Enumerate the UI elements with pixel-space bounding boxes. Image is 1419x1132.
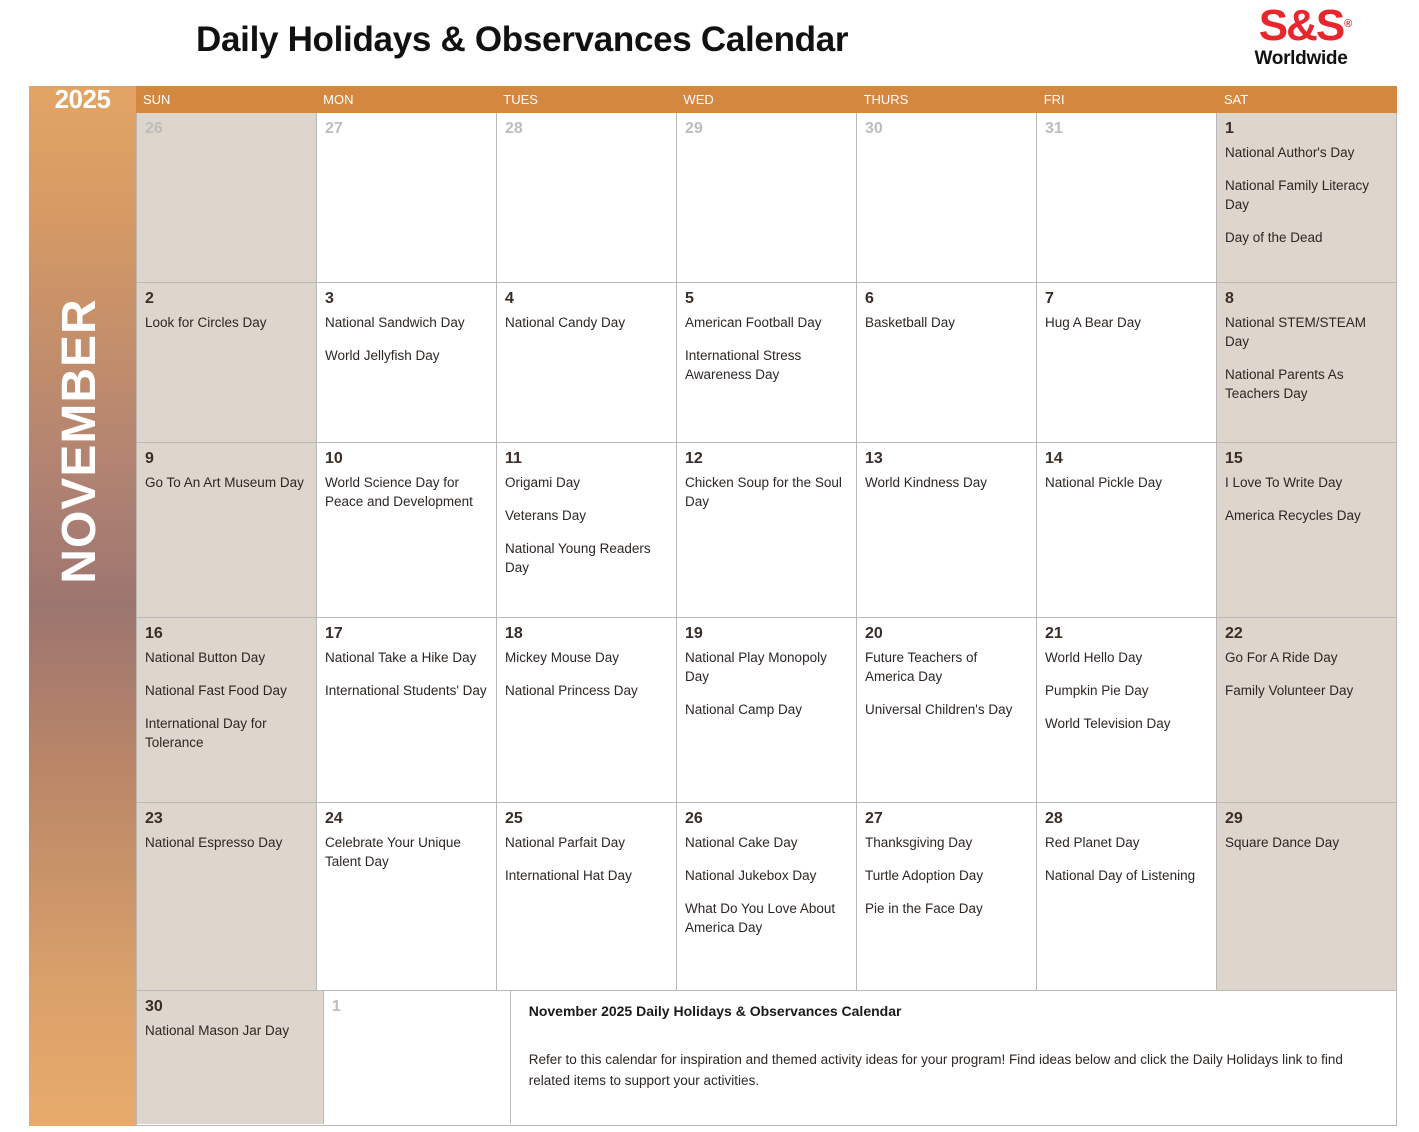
day-cell-17[interactable]: 17National Take a Hike DayInternational … — [317, 618, 497, 802]
page-header: Daily Holidays & Observances Calendar S&… — [0, 0, 1419, 86]
day-of-week-header-fri: FRI — [1037, 86, 1217, 113]
day-cell-4[interactable]: 4National Candy Day — [497, 283, 677, 442]
day-event[interactable]: Mickey Mouse Day — [505, 648, 668, 667]
day-cell-22[interactable]: 22Go For A Ride DayFamily Volunteer Day — [1217, 618, 1396, 802]
day-event[interactable]: National Mason Jar Day — [145, 1021, 315, 1040]
day-number: 15 — [1225, 449, 1388, 469]
day-number: 7 — [1045, 289, 1208, 309]
note-title: November 2025 Daily Holidays & Observanc… — [529, 1001, 1378, 1021]
day-of-week-header-tues: TUES — [496, 86, 676, 113]
month-label: NOVEMBER — [55, 116, 105, 766]
week-row: 2Look for Circles Day3National Sandwich … — [137, 283, 1396, 443]
day-event[interactable]: National Button Day — [145, 648, 308, 667]
day-cell-18[interactable]: 18Mickey Mouse DayNational Princess Day — [497, 618, 677, 802]
day-cell-27[interactable]: 27 — [317, 113, 497, 282]
day-number: 20 — [865, 624, 1028, 644]
day-event[interactable]: Thanksgiving Day — [865, 833, 1028, 852]
day-event[interactable]: National Parents As Teachers Day — [1225, 365, 1388, 403]
day-cell-15[interactable]: 15I Love To Write DayAmerica Recycles Da… — [1217, 443, 1396, 617]
day-number: 26 — [145, 119, 308, 139]
day-cell-19[interactable]: 19National Play Monopoly DayNational Cam… — [677, 618, 857, 802]
day-event[interactable]: Red Planet Day — [1045, 833, 1208, 852]
day-number: 3 — [325, 289, 488, 309]
day-cell-14[interactable]: 14National Pickle Day — [1037, 443, 1217, 617]
day-cell-20[interactable]: 20Future Teachers of America DayUniversa… — [857, 618, 1037, 802]
page-title: Daily Holidays & Observances Calendar — [196, 20, 848, 60]
day-event[interactable]: America Recycles Day — [1225, 506, 1388, 525]
day-event[interactable]: National Play Monopoly Day — [685, 648, 848, 686]
day-event[interactable]: National Candy Day — [505, 313, 668, 332]
week-rows: 2627282930311National Author's DayNation… — [136, 113, 1397, 1126]
day-event[interactable]: National Parfait Day — [505, 833, 668, 852]
day-number: 22 — [1225, 624, 1388, 644]
day-cell-30[interactable]: 30National Mason Jar Day — [137, 991, 324, 1124]
day-event[interactable]: National Author's Day — [1225, 143, 1388, 162]
brand-mark-text: S&S ® — [1259, 4, 1343, 48]
month-rail: 2025 NOVEMBER — [29, 86, 136, 1126]
day-cell-8[interactable]: 8National STEM/STEAM DayNational Parents… — [1217, 283, 1396, 442]
day-cell-1[interactable]: 1 — [324, 991, 511, 1124]
day-number: 25 — [505, 809, 668, 829]
day-number: 13 — [865, 449, 1028, 469]
day-event[interactable]: Basketball Day — [865, 313, 1028, 332]
day-event[interactable]: Square Dance Day — [1225, 833, 1388, 852]
day-cell-26[interactable]: 26 — [137, 113, 317, 282]
day-event[interactable]: Look for Circles Day — [145, 313, 308, 332]
day-number: 30 — [865, 119, 1028, 139]
day-number: 30 — [145, 997, 315, 1017]
day-cell-25[interactable]: 25National Parfait DayInternational Hat … — [497, 803, 677, 990]
day-cell-3[interactable]: 3National Sandwich DayWorld Jellyfish Da… — [317, 283, 497, 442]
day-event[interactable]: International Day for Tolerance — [145, 714, 308, 752]
day-event[interactable]: Celebrate Your Unique Talent Day — [325, 833, 488, 871]
note-body: Refer to this calendar for inspiration a… — [529, 1049, 1378, 1091]
calendar-grid: SUNMONTUESWEDTHURSFRISAT 2627282930311Na… — [136, 86, 1397, 1126]
day-event[interactable]: National Fast Food Day — [145, 681, 308, 700]
day-event[interactable]: Origami Day — [505, 473, 668, 492]
day-cell-12[interactable]: 12Chicken Soup for the Soul Day — [677, 443, 857, 617]
day-event[interactable]: National Day of Listening — [1045, 866, 1208, 885]
day-event[interactable]: Day of the Dead — [1225, 228, 1388, 247]
day-event[interactable]: National Espresso Day — [145, 833, 308, 852]
day-number: 10 — [325, 449, 488, 469]
week-row-last: 30National Mason Jar Day1November 2025 D… — [137, 991, 1396, 1124]
day-number: 11 — [505, 449, 668, 469]
day-cell-16[interactable]: 16National Button DayNational Fast Food … — [137, 618, 317, 802]
day-number: 28 — [505, 119, 668, 139]
day-cell-26[interactable]: 26National Cake DayNational Jukebox DayW… — [677, 803, 857, 990]
day-event[interactable]: National Princess Day — [505, 681, 668, 700]
day-cell-1[interactable]: 1National Author's DayNational Family Li… — [1217, 113, 1396, 282]
day-event[interactable]: Chicken Soup for the Soul Day — [685, 473, 848, 511]
day-number: 26 — [685, 809, 848, 829]
day-number: 2 — [145, 289, 308, 309]
day-number: 12 — [685, 449, 848, 469]
day-cell-24[interactable]: 24Celebrate Your Unique Talent Day — [317, 803, 497, 990]
day-cell-29[interactable]: 29Square Dance Day — [1217, 803, 1396, 990]
day-number: 29 — [1225, 809, 1388, 829]
day-event[interactable]: National Sandwich Day — [325, 313, 488, 332]
day-number: 21 — [1045, 624, 1208, 644]
day-number: 1 — [1225, 119, 1388, 139]
week-row: 16National Button DayNational Fast Food … — [137, 618, 1396, 803]
day-event[interactable]: World Science Day for Peace and Developm… — [325, 473, 488, 511]
day-number: 28 — [1045, 809, 1208, 829]
day-cell-28[interactable]: 28 — [497, 113, 677, 282]
day-number: 27 — [325, 119, 488, 139]
day-cell-21[interactable]: 21World Hello DayPumpkin Pie DayWorld Te… — [1037, 618, 1217, 802]
brand-logo: S&S ® Worldwide — [1231, 4, 1371, 70]
day-event[interactable]: Turtle Adoption Day — [865, 866, 1028, 885]
day-event[interactable]: National Family Literacy Day — [1225, 176, 1388, 214]
day-cell-29[interactable]: 29 — [677, 113, 857, 282]
day-event[interactable]: Go For A Ride Day — [1225, 648, 1388, 667]
day-cell-30[interactable]: 30 — [857, 113, 1037, 282]
day-event[interactable]: National Take a Hike Day — [325, 648, 488, 667]
day-cell-10[interactable]: 10World Science Day for Peace and Develo… — [317, 443, 497, 617]
day-event[interactable]: Veterans Day — [505, 506, 668, 525]
day-event[interactable]: National Pickle Day — [1045, 473, 1208, 492]
day-event[interactable]: Future Teachers of America Day — [865, 648, 1028, 686]
day-of-week-header-sat: SAT — [1217, 86, 1397, 113]
day-number: 19 — [685, 624, 848, 644]
day-cell-23[interactable]: 23National Espresso Day — [137, 803, 317, 990]
day-event[interactable]: World Television Day — [1045, 714, 1208, 733]
day-number: 17 — [325, 624, 488, 644]
day-event[interactable]: Pie in the Face Day — [865, 899, 1028, 918]
day-event[interactable]: International Hat Day — [505, 866, 668, 885]
day-event[interactable]: Family Volunteer Day — [1225, 681, 1388, 700]
day-number: 24 — [325, 809, 488, 829]
day-event[interactable]: International Stress Awareness Day — [685, 346, 848, 384]
day-cell-13[interactable]: 13World Kindness Day — [857, 443, 1037, 617]
day-event[interactable]: Pumpkin Pie Day — [1045, 681, 1208, 700]
day-cell-28[interactable]: 28Red Planet DayNational Day of Listenin… — [1037, 803, 1217, 990]
day-event[interactable]: National Cake Day — [685, 833, 848, 852]
day-cell-31[interactable]: 31 — [1037, 113, 1217, 282]
day-number: 8 — [1225, 289, 1388, 309]
day-number: 27 — [865, 809, 1028, 829]
day-number: 9 — [145, 449, 308, 469]
day-event[interactable]: International Students' Day — [325, 681, 488, 700]
day-cell-2[interactable]: 2Look for Circles Day — [137, 283, 317, 442]
day-event[interactable]: I Love To Write Day — [1225, 473, 1388, 492]
day-event[interactable]: Hug A Bear Day — [1045, 313, 1208, 332]
day-event[interactable]: National Young Readers Day — [505, 539, 668, 577]
day-cell-6[interactable]: 6Basketball Day — [857, 283, 1037, 442]
day-cell-7[interactable]: 7Hug A Bear Day — [1037, 283, 1217, 442]
day-event[interactable]: National Jukebox Day — [685, 866, 848, 885]
day-number: 14 — [1045, 449, 1208, 469]
week-row: 23National Espresso Day24Celebrate Your … — [137, 803, 1396, 991]
day-event[interactable]: National STEM/STEAM Day — [1225, 313, 1388, 351]
calendar-body: 2025 NOVEMBER SUNMONTUESWEDTHURSFRISAT 2… — [29, 86, 1397, 1126]
day-of-week-header-thurs: THURS — [857, 86, 1037, 113]
day-number: 6 — [865, 289, 1028, 309]
day-cell-27[interactable]: 27Thanksgiving DayTurtle Adoption DayPie… — [857, 803, 1037, 990]
day-number: 5 — [685, 289, 848, 309]
day-event[interactable]: National Camp Day — [685, 700, 848, 719]
day-number: 16 — [145, 624, 308, 644]
day-event[interactable]: Universal Children's Day — [865, 700, 1028, 719]
day-cell-9[interactable]: 9Go To An Art Museum Day — [137, 443, 317, 617]
calendar-page: Daily Holidays & Observances Calendar S&… — [0, 0, 1419, 1132]
day-cell-11[interactable]: 11Origami DayVeterans DayNational Young … — [497, 443, 677, 617]
day-event[interactable]: World Hello Day — [1045, 648, 1208, 667]
day-event[interactable]: World Jellyfish Day — [325, 346, 488, 365]
day-number: 31 — [1045, 119, 1208, 139]
brand-mark-label: S&S — [1259, 1, 1343, 50]
day-event[interactable]: World Kindness Day — [865, 473, 1028, 492]
week-row: 9Go To An Art Museum Day10World Science … — [137, 443, 1396, 618]
registered-trademark-icon: ® — [1344, 2, 1352, 46]
day-of-week-header-row: SUNMONTUESWEDTHURSFRISAT — [136, 86, 1397, 113]
day-number: 4 — [505, 289, 668, 309]
brand-subtitle: Worldwide — [1231, 48, 1371, 70]
day-event[interactable]: What Do You Love About America Day — [685, 899, 848, 937]
day-of-week-header-wed: WED — [676, 86, 856, 113]
day-of-week-header-sun: SUN — [136, 86, 316, 113]
calendar-note-panel: November 2025 Daily Holidays & Observanc… — [511, 991, 1396, 1124]
week-row: 2627282930311National Author's DayNation… — [137, 113, 1396, 283]
day-number: 1 — [332, 997, 502, 1017]
day-event[interactable]: American Football Day — [685, 313, 848, 332]
day-cell-5[interactable]: 5American Football DayInternational Stre… — [677, 283, 857, 442]
day-of-week-header-mon: MON — [316, 86, 496, 113]
day-number: 23 — [145, 809, 308, 829]
day-number: 18 — [505, 624, 668, 644]
year-label: 2025 — [29, 86, 136, 113]
day-number: 29 — [685, 119, 848, 139]
day-event[interactable]: Go To An Art Museum Day — [145, 473, 308, 492]
